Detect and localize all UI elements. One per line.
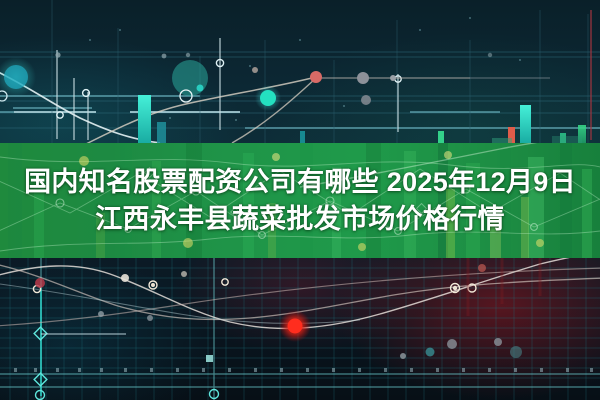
- banner-image: 国内知名股票配资公司有哪些 2025年12月9日 江西永丰县蔬菜批发市场价格行情: [0, 0, 600, 400]
- top-chart-graphics: [0, 0, 600, 145]
- bottom-grid-background: [0, 256, 600, 400]
- bottom-grid-graphics: [0, 256, 600, 400]
- top-chart-background: [0, 0, 600, 145]
- banner-network-graphics: [0, 143, 600, 258]
- green-title-band: [0, 143, 600, 258]
